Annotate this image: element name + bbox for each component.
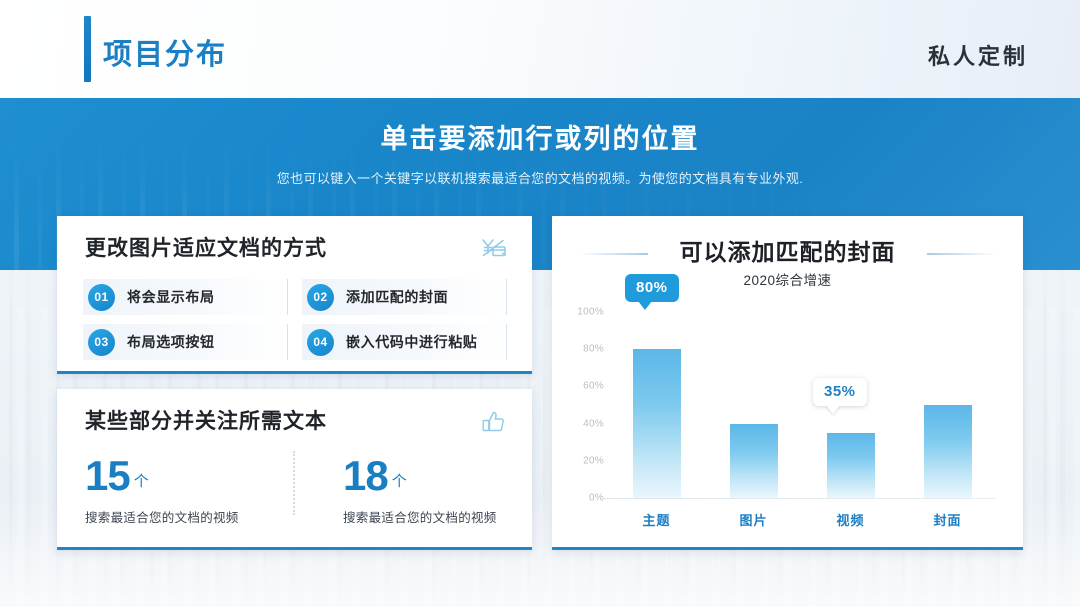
- bar[interactable]: [924, 405, 972, 498]
- bar-chart-plot: 0%20%40%60%80%100% 主题图片视频封面 80% 35%: [608, 312, 996, 516]
- bar-column[interactable]: [705, 312, 802, 498]
- x-axis-label: 视频: [802, 510, 899, 529]
- list-item[interactable]: 03 布局选项按钮: [83, 324, 288, 360]
- payment-card-icon: [478, 234, 508, 264]
- thumbs-up-icon: [478, 407, 508, 437]
- bar-series: [608, 312, 996, 498]
- chart-title: 可以添加匹配的封面: [552, 238, 1023, 266]
- header-accent-bar: [84, 16, 91, 82]
- slide-canvas: 项目分布 私人定制 单击要添加行或列的位置 您也可以键入一个关键字以联机搜索最适…: [0, 0, 1080, 607]
- list-item-number: 04: [307, 329, 334, 356]
- page-title: 项目分布: [103, 38, 227, 72]
- banner-title: 单击要添加行或列的位置: [0, 122, 1080, 156]
- y-axis-tick: 100%: [577, 307, 604, 318]
- stat-caption: 搜索最适合您的文档的视频: [85, 507, 295, 526]
- stats-row: 15个 搜索最适合您的文档的视频 18个 搜索最适合您的文档的视频: [85, 453, 505, 526]
- list-item-number: 03: [88, 329, 115, 356]
- stat-item: 18个 搜索最适合您的文档的视频: [295, 453, 505, 526]
- bar-column[interactable]: [899, 312, 996, 498]
- stat-item: 15个 搜索最适合您的文档的视频: [85, 453, 295, 526]
- stat-value: 18: [343, 453, 388, 499]
- stats-card: 某些部分并关注所需文本 15个 搜索最适合您的文档的视频 18个 搜索最适合您的…: [57, 389, 532, 550]
- list-card: 更改图片适应文档的方式 01 将会显示布局 02 添加匹配的封面 03 布局选项…: [57, 216, 532, 374]
- stat-caption: 搜索最适合您的文档的视频: [343, 507, 505, 526]
- page-header: 项目分布 私人定制: [0, 0, 1080, 98]
- list-item-label: 嵌入代码中进行粘贴: [346, 332, 477, 352]
- list-item-label: 布局选项按钮: [127, 332, 215, 352]
- list-item[interactable]: 02 添加匹配的封面: [302, 279, 507, 315]
- list-item[interactable]: 04 嵌入代码中进行粘贴: [302, 324, 507, 360]
- stat-unit: 个: [392, 473, 407, 490]
- bar[interactable]: [633, 349, 681, 498]
- list-item[interactable]: 01 将会显示布局: [83, 279, 288, 315]
- y-axis-tick: 40%: [583, 418, 604, 429]
- bar[interactable]: [827, 433, 875, 498]
- y-axis-tick: 80%: [583, 344, 604, 355]
- x-axis-label: 主题: [608, 510, 705, 529]
- stats-card-title: 某些部分并关注所需文本: [85, 409, 327, 435]
- bar-tooltip-theme: 80%: [625, 274, 679, 302]
- bar[interactable]: [730, 424, 778, 498]
- y-axis: 0%20%40%60%80%100%: [560, 312, 604, 498]
- y-axis-tick: 20%: [583, 455, 604, 466]
- x-axis-labels: 主题图片视频封面: [608, 510, 996, 529]
- brand-logo: 私人定制: [928, 44, 1028, 70]
- x-axis-line: [602, 498, 996, 499]
- bar-tooltip-video: 35%: [813, 378, 867, 406]
- x-axis-label: 图片: [705, 510, 802, 529]
- numbered-list: 01 将会显示布局 02 添加匹配的封面 03 布局选项按钮 04 嵌入代码中进…: [83, 279, 507, 360]
- list-item-label: 将会显示布局: [127, 287, 215, 307]
- chart-subtitle: 2020综合增速: [552, 272, 1023, 290]
- y-axis-tick: 60%: [583, 381, 604, 392]
- list-card-title: 更改图片适应文档的方式: [85, 236, 327, 262]
- chart-card: 可以添加匹配的封面 2020综合增速 0%20%40%60%80%100% 主题…: [552, 216, 1023, 550]
- list-item-label: 添加匹配的封面: [346, 287, 448, 307]
- banner-subtitle: 您也可以键入一个关键字以联机搜索最适合您的文档的视频。为使您的文档具有专业外观.: [0, 170, 1080, 188]
- x-axis-label: 封面: [899, 510, 996, 529]
- stat-unit: 个: [134, 473, 149, 490]
- bar-column[interactable]: [608, 312, 705, 498]
- list-item-number: 01: [88, 284, 115, 311]
- stat-value: 15: [85, 453, 130, 499]
- list-item-number: 02: [307, 284, 334, 311]
